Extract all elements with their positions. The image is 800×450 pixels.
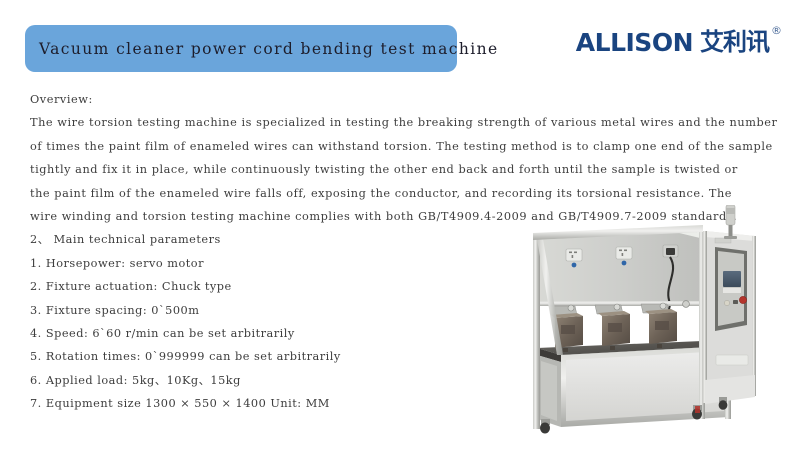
caster — [692, 405, 702, 420]
logo-brand-cn: 艾利讯 — [700, 30, 769, 54]
overview-line: of times the paint film of enameled wire… — [30, 135, 775, 158]
start-button[interactable] — [724, 300, 729, 305]
overview-line: the paint film of the enameled wire fall… — [30, 182, 775, 205]
title-banner: Vacuum cleaner power cord bending test m… — [25, 25, 457, 72]
weight-fixture — [645, 309, 677, 348]
caster — [719, 397, 728, 410]
selector-switch[interactable] — [733, 300, 738, 304]
warning-label — [716, 355, 748, 365]
overview-line: tightly and fix it in place, while conti… — [30, 158, 775, 181]
socket-outlet — [663, 245, 678, 257]
registered-trademark-icon: ® — [771, 25, 782, 36]
hmi-touchscreen[interactable] — [723, 271, 741, 287]
product-photo — [497, 205, 793, 445]
page-header: Vacuum cleaner power cord bending test m… — [0, 0, 800, 88]
caster — [540, 419, 550, 434]
page-title: Vacuum cleaner power cord bending test m… — [39, 40, 499, 58]
upper-enclosure-panel — [537, 227, 700, 305]
overview-line: The wire torsion testing machine is spec… — [30, 111, 775, 134]
logo-brand-en: ALLISON — [576, 30, 693, 55]
control-cabinet — [703, 231, 756, 404]
emergency-stop-button[interactable] — [739, 296, 746, 303]
weight-fixture — [598, 311, 630, 350]
overview-heading: Overview: — [30, 88, 775, 111]
brand-logo: ALLISON 艾利讯 ® — [576, 30, 782, 55]
